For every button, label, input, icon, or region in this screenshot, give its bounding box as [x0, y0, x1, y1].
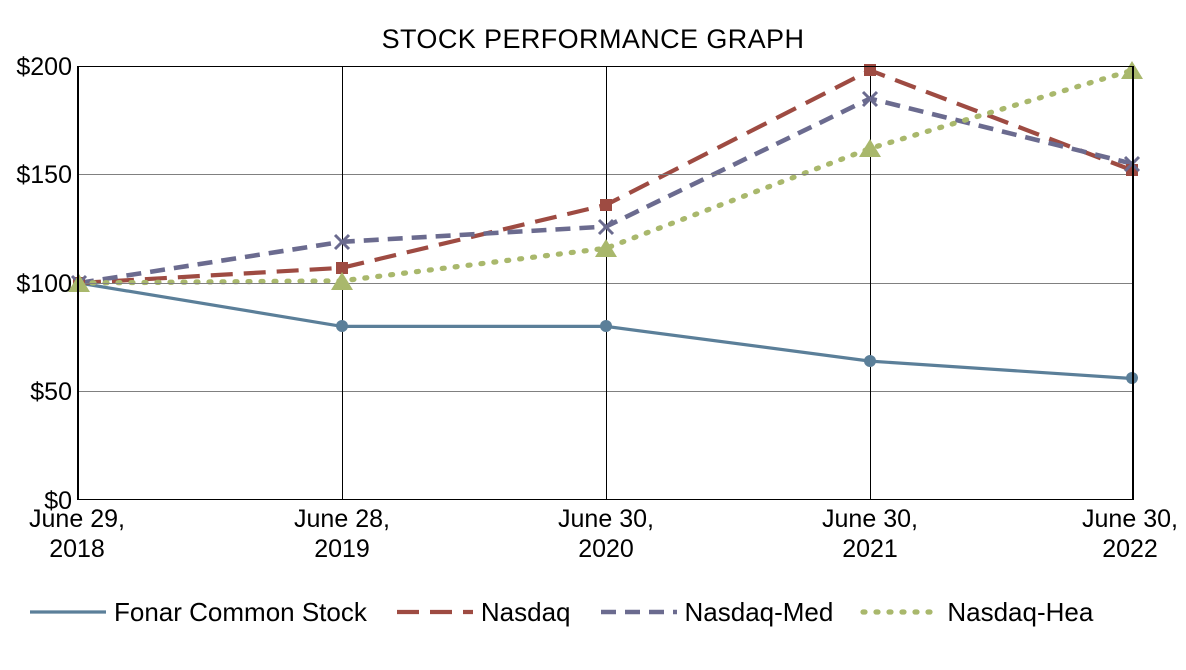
x-tick-line2: 2022 [1015, 534, 1186, 564]
x-axis-tick-label: June 28, 2019 [227, 504, 457, 564]
legend-item[interactable]: Nasdaq [393, 597, 571, 628]
x-axis-tick-label: June 30, 2021 [755, 504, 985, 564]
legend-label: Nasdaq-Med [681, 597, 834, 628]
x-tick-line2: 2021 [755, 534, 985, 564]
plot-area [77, 66, 1134, 500]
legend-label: Fonar Common Stock [110, 597, 367, 628]
chart-legend: Fonar Common StockNasdaqNasdaq-MedNasdaq… [0, 592, 1186, 632]
y-axis-tick-label: $200 [0, 53, 72, 82]
plot-border [77, 66, 1134, 500]
stock-performance-chart: STOCK PERFORMANCE GRAPH $200 $150 $100 $… [0, 0, 1186, 670]
x-axis-tick-label: June 29, 2018 [0, 504, 192, 564]
legend-swatch [26, 599, 110, 625]
x-tick-line1: June 28, [227, 504, 457, 534]
y-axis-tick-label: $150 [0, 161, 72, 190]
x-tick-line1: June 30, [491, 504, 721, 534]
x-tick-line1: June 29, [0, 504, 192, 534]
x-tick-line1: June 30, [755, 504, 985, 534]
legend-swatch [393, 599, 477, 625]
y-axis-tick-label: $50 [0, 378, 72, 407]
chart-title: STOCK PERFORMANCE GRAPH [0, 24, 1186, 55]
y-axis-tick-label: $100 [0, 270, 72, 299]
legend-item[interactable]: Fonar Common Stock [26, 597, 367, 628]
legend-label: Nasdaq-Hea [943, 597, 1093, 628]
x-axis-tick-label: June 30, 2022 [1015, 504, 1186, 564]
x-tick-line2: 2020 [491, 534, 721, 564]
legend-item[interactable]: Nasdaq-Med [597, 597, 834, 628]
x-tick-line1: June 30, [1015, 504, 1186, 534]
legend-item[interactable]: Nasdaq-Hea [859, 597, 1093, 628]
legend-swatch [597, 599, 681, 625]
x-tick-line2: 2018 [0, 534, 192, 564]
x-tick-line2: 2019 [227, 534, 457, 564]
x-axis-tick-label: June 30, 2020 [491, 504, 721, 564]
legend-swatch [859, 599, 943, 625]
legend-label: Nasdaq [477, 597, 571, 628]
